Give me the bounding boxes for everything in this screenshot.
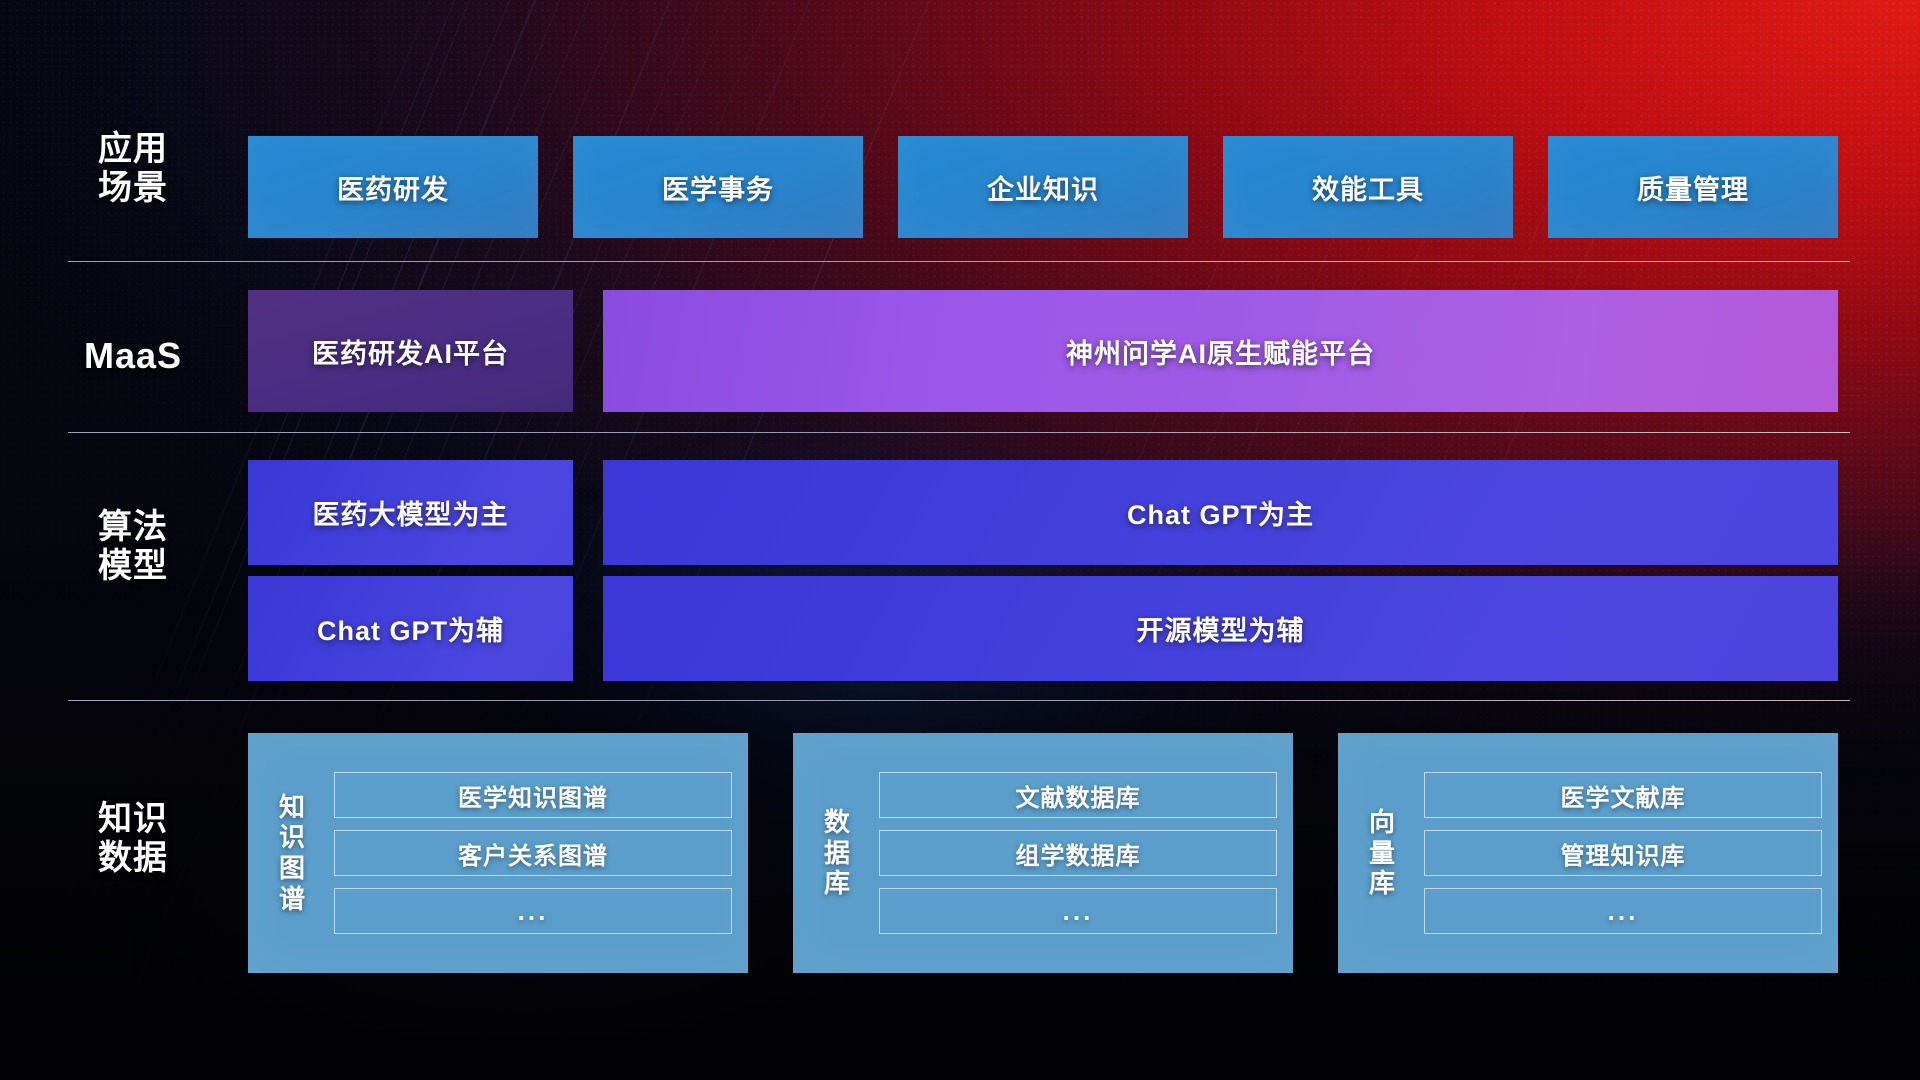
knowledge-group-label: 知识 图谱	[266, 792, 320, 915]
knowledge-item[interactable]: 文献数据库	[879, 772, 1277, 818]
row-label-application-scenarios: 应用 场景	[68, 130, 198, 208]
divider-row2-row3	[68, 432, 1850, 433]
knowledge-item-list: 文献数据库 组学数据库 ...	[879, 772, 1277, 934]
knowledge-group-label: 数据 库	[811, 807, 865, 899]
knowledge-item[interactable]: 医学知识图谱	[334, 772, 732, 818]
app-box-efficiency-tools[interactable]: 效能工具	[1223, 136, 1513, 238]
knowledge-item[interactable]: 客户关系图谱	[334, 830, 732, 876]
knowledge-item-more[interactable]: ...	[334, 888, 732, 934]
maas-box-medicine-rd-ai-platform[interactable]: 医药研发AI平台	[248, 290, 573, 412]
algo-box-medicine-large-model-primary[interactable]: 医药大模型为主	[248, 460, 573, 565]
knowledge-item-more[interactable]: ...	[879, 888, 1277, 934]
app-box-medical-affairs[interactable]: 医学事务	[573, 136, 863, 238]
knowledge-item-more[interactable]: ...	[1424, 888, 1822, 934]
app-box-enterprise-knowledge[interactable]: 企业知识	[898, 136, 1188, 238]
diagram-canvas: 应用 场景 医药研发 医学事务 企业知识 效能工具 质量管理 MaaS 医药研发…	[0, 0, 1920, 1080]
knowledge-item[interactable]: 管理知识库	[1424, 830, 1822, 876]
row-label-knowledge-data: 知识 数据	[68, 800, 198, 878]
algo-box-chatgpt-primary[interactable]: Chat GPT为主	[603, 460, 1838, 565]
maas-box-shenzhou-wenxue-platform[interactable]: 神州问学AI原生赋能平台	[603, 290, 1838, 412]
knowledge-group-vector-store[interactable]: 向量 库 医学文献库 管理知识库 ...	[1338, 733, 1838, 973]
divider-row3-row4	[68, 700, 1850, 701]
knowledge-group-database[interactable]: 数据 库 文献数据库 组学数据库 ...	[793, 733, 1293, 973]
algo-box-chatgpt-secondary[interactable]: Chat GPT为辅	[248, 576, 573, 681]
knowledge-item[interactable]: 医学文献库	[1424, 772, 1822, 818]
knowledge-item[interactable]: 组学数据库	[879, 830, 1277, 876]
knowledge-group-knowledge-graph[interactable]: 知识 图谱 医学知识图谱 客户关系图谱 ...	[248, 733, 748, 973]
knowledge-group-label: 向量 库	[1356, 807, 1410, 899]
algo-box-opensource-secondary[interactable]: 开源模型为辅	[603, 576, 1838, 681]
diagram-content: 应用 场景 医药研发 医学事务 企业知识 效能工具 质量管理 MaaS 医药研发…	[0, 0, 1920, 1080]
divider-row1-row2	[68, 261, 1850, 262]
knowledge-item-list: 医学文献库 管理知识库 ...	[1424, 772, 1822, 934]
app-box-medicine-rd[interactable]: 医药研发	[248, 136, 538, 238]
row-label-algorithm-models: 算法 模型	[68, 508, 198, 586]
app-box-quality-management[interactable]: 质量管理	[1548, 136, 1838, 238]
knowledge-item-list: 医学知识图谱 客户关系图谱 ...	[334, 772, 732, 934]
row-label-maas: MaaS	[68, 335, 198, 376]
